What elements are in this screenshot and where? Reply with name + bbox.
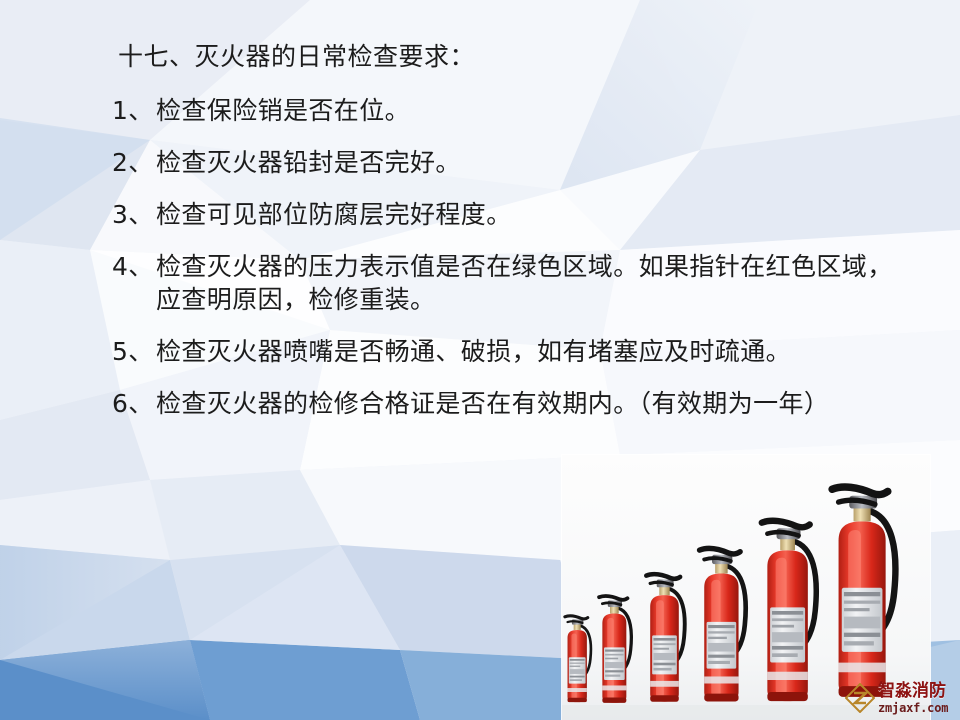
list-item-text: 检查灭火器的检修合格证是否在有效期内。（有效期为一年） <box>156 387 952 420</box>
list-item-number: 4、 <box>112 250 156 283</box>
requirements-list: 1、 检查保险销是否在位。 2、 检查灭火器铅封是否完好。 3、 检查可见部位防… <box>112 94 952 420</box>
list-item-text-line2: 应查明原因，检修重装。 <box>156 283 952 316</box>
list-item-text: 检查灭火器铅封是否完好。 <box>156 146 952 179</box>
watermark-brand: 智淼消防 <box>878 683 948 700</box>
watermark: 智淼消防 zmjaxf.com <box>845 678 960 718</box>
list-item: 2、 检查灭火器铅封是否完好。 <box>112 146 952 179</box>
list-item: 1、 检查保险销是否在位。 <box>112 94 952 127</box>
watermark-text: 智淼消防 zmjaxf.com <box>878 683 948 714</box>
slide-text-block: 十七、灭火器的日常检查要求： 1、 检查保险销是否在位。 2、 检查灭火器铅封是… <box>112 42 952 420</box>
list-item-text: 检查保险销是否在位。 <box>156 94 952 127</box>
slide-canvas: 十七、灭火器的日常检查要求： 1、 检查保险销是否在位。 2、 检查灭火器铅封是… <box>0 0 960 720</box>
list-item: 6、 检查灭火器的检修合格证是否在有效期内。（有效期为一年） <box>112 387 952 420</box>
list-item-number: 5、 <box>112 335 156 368</box>
list-item: 4、 检查灭火器的压力表示值是否在绿色区域。如果指针在红色区域， 应查明原因，检… <box>112 250 952 316</box>
list-item-number: 6、 <box>112 387 156 420</box>
list-item-number: 2、 <box>112 146 156 179</box>
list-item-text: 检查灭火器喷嘴是否畅通、破损，如有堵塞应及时疏通。 <box>156 335 952 368</box>
list-item-text: 检查可见部位防腐层完好程度。 <box>156 198 952 231</box>
list-item-text: 检查灭火器的压力表示值是否在绿色区域。如果指针在红色区域， <box>156 250 952 283</box>
list-item: 3、 检查可见部位防腐层完好程度。 <box>112 198 952 231</box>
list-item-number: 1、 <box>112 94 156 127</box>
list-item-number: 3、 <box>112 198 156 231</box>
diamond-z-logo-icon <box>845 683 875 713</box>
list-item: 5、 检查灭火器喷嘴是否畅通、破损，如有堵塞应及时疏通。 <box>112 335 952 368</box>
watermark-url: zmjaxf.com <box>878 702 948 714</box>
slide-heading: 十七、灭火器的日常检查要求： <box>118 42 952 72</box>
